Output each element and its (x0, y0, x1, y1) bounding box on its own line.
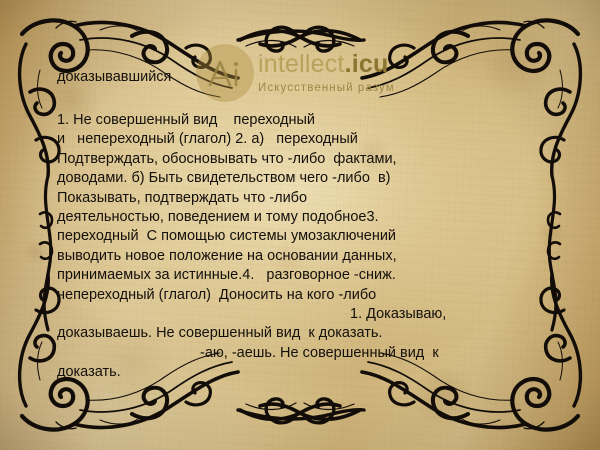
entry-body: 1. Не совершенный вид переходныйи непере… (57, 111, 531, 383)
dictionary-content: доказывавшийся 1. Не совершенный вид пер… (0, 0, 600, 450)
entry-line: -аю, -аешь. Не совершенный вид к (57, 344, 531, 363)
entry-line: Подтверждать, обосновывать что -либо фак… (57, 150, 531, 169)
entry-line: Показывать, подтверждать что -либо (57, 189, 531, 208)
entry-line: непереходный (глагол) Доносить на кого -… (57, 286, 531, 305)
entry-line: переходный С помощью системы умозаключен… (57, 227, 531, 246)
entry-line: доказываешь. Не совершенный вид к доказа… (57, 324, 531, 343)
entry-line: доводами. б) Быть свидетельством чего -л… (57, 169, 531, 188)
entry-line: 1. Доказываю, (57, 305, 531, 324)
entry-line: принимаемых за истинные.4. разговорное -… (57, 266, 531, 285)
entry-line: и непереходный (глагол) 2. а) переходный (57, 130, 531, 149)
entry-line: деятельностью, поведением и тому подобно… (57, 208, 531, 227)
entry-line: выводить новое положение на основании да… (57, 247, 531, 266)
parchment-page: intellect.icu Искусственный разум доказы… (0, 0, 600, 450)
headword: доказывавшийся (57, 69, 171, 85)
entry-line: доказать. (57, 363, 531, 382)
entry-line: 1. Не совершенный вид переходный (57, 111, 531, 130)
